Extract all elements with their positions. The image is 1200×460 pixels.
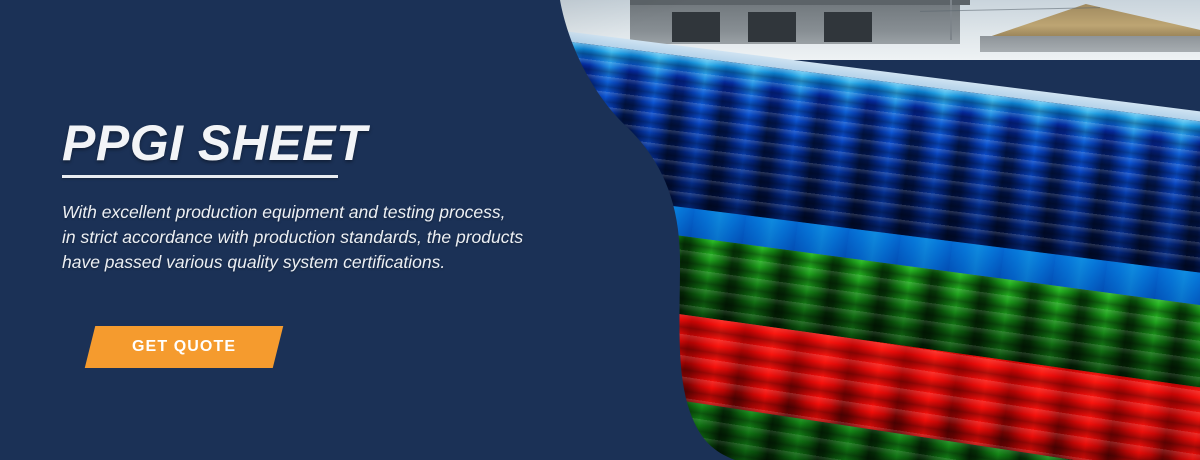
utility-pole <box>950 0 952 40</box>
cta-container: GET QUOTE <box>90 326 278 368</box>
building-wall <box>980 36 1200 52</box>
ppgi-hero-banner: PPGI SHEET With excellent production equ… <box>0 0 1200 460</box>
shed-door <box>748 12 796 42</box>
shed-roofline <box>630 0 970 5</box>
title-underline-rule <box>62 175 338 178</box>
get-quote-button-label: GET QUOTE <box>132 338 236 356</box>
page-title: PPGI SHEET <box>62 118 367 168</box>
subtitle-line-3: have passed various quality system certi… <box>62 250 582 275</box>
shed-door <box>824 12 872 42</box>
subtitle-line-1: With excellent production equipment and … <box>62 200 582 225</box>
get-quote-button[interactable]: GET QUOTE <box>85 326 284 368</box>
tiled-roof-building <box>980 4 1200 52</box>
banner-content: PPGI SHEET With excellent production equ… <box>62 0 582 460</box>
shed-door <box>672 12 720 42</box>
subtitle-line-2: in strict accordance with production sta… <box>62 225 582 250</box>
banner-subtitle: With excellent production equipment and … <box>62 200 582 275</box>
